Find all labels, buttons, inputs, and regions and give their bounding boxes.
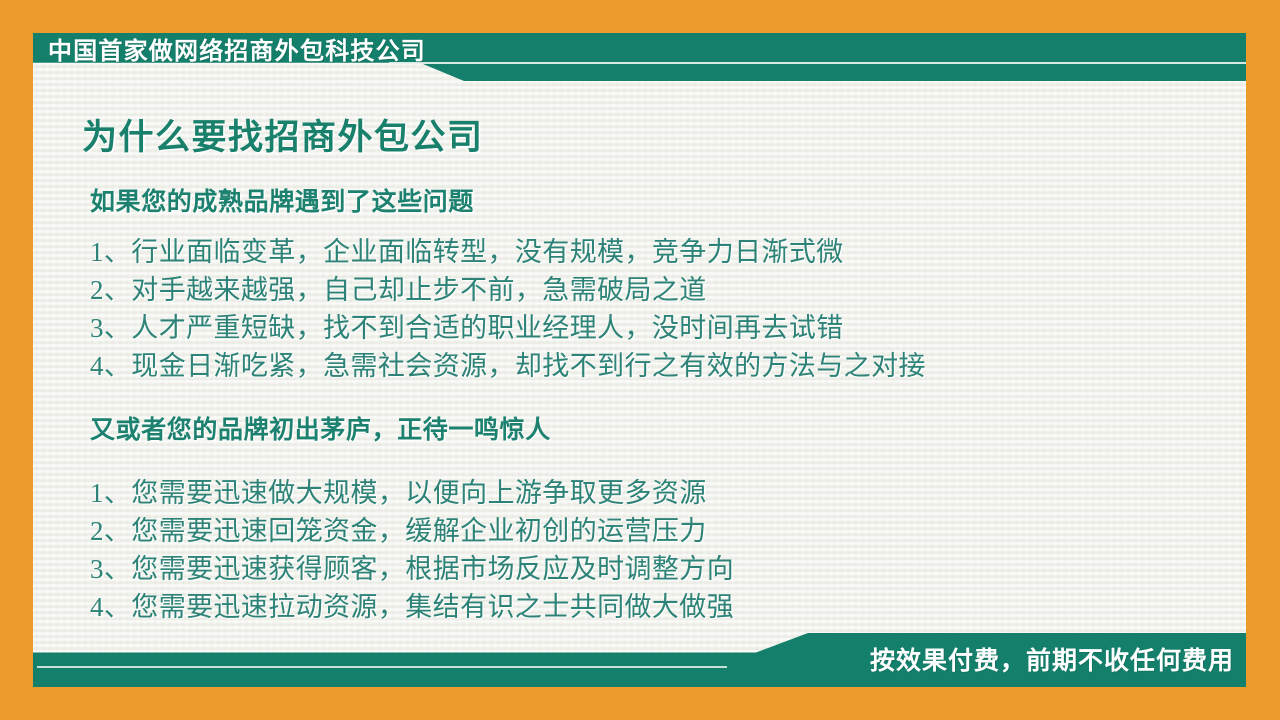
list-item: 3、您需要迅速获得顾客，根据市场反应及时调整方向	[90, 550, 734, 588]
page-title: 为什么要找招商外包公司	[82, 118, 484, 157]
footer-divider-line	[37, 666, 727, 668]
list-item: 4、现金日渐吃紧，急需社会资源，却找不到行之有效的方法与之对接	[90, 347, 926, 385]
footer-tagline: 按效果付费，前期不收任何费用	[870, 649, 1234, 674]
needs-list-new-brand: 1、您需要迅速做大规模，以便向上游争取更多资源 2、您需要迅速回笼资金，缓解企业…	[90, 474, 734, 626]
list-item: 1、您需要迅速做大规模，以便向上游争取更多资源	[90, 474, 734, 512]
problem-list-mature-brand: 1、行业面临变革，企业面临转型，没有规模，竞争力日渐式微 2、对手越来越强，自己…	[90, 233, 926, 385]
list-item: 2、对手越来越强，自己却止步不前，急需破局之道	[90, 271, 926, 309]
list-item: 2、您需要迅速回笼资金，缓解企业初创的运营压力	[90, 512, 734, 550]
section-heading-mature-brand: 如果您的成熟品牌遇到了这些问题	[90, 189, 474, 217]
list-item: 1、行业面临变革，企业面临转型，没有规模，竞争力日渐式微	[90, 233, 926, 271]
slide-canvas: 中国首家做网络招商外包科技公司 为什么要找招商外包公司 如果您的成熟品牌遇到了这…	[0, 0, 1280, 720]
list-item: 4、您需要迅速拉动资源，集结有识之士共同做大做强	[90, 588, 734, 626]
header-divider-line	[389, 62, 1246, 64]
section-heading-new-brand: 又或者您的品牌初出茅庐，正待一鸣惊人	[90, 417, 551, 445]
list-item: 3、人才严重短缺，找不到合适的职业经理人，没时间再去试错	[90, 309, 926, 347]
header-badge-text: 中国首家做网络招商外包科技公司	[48, 40, 426, 64]
